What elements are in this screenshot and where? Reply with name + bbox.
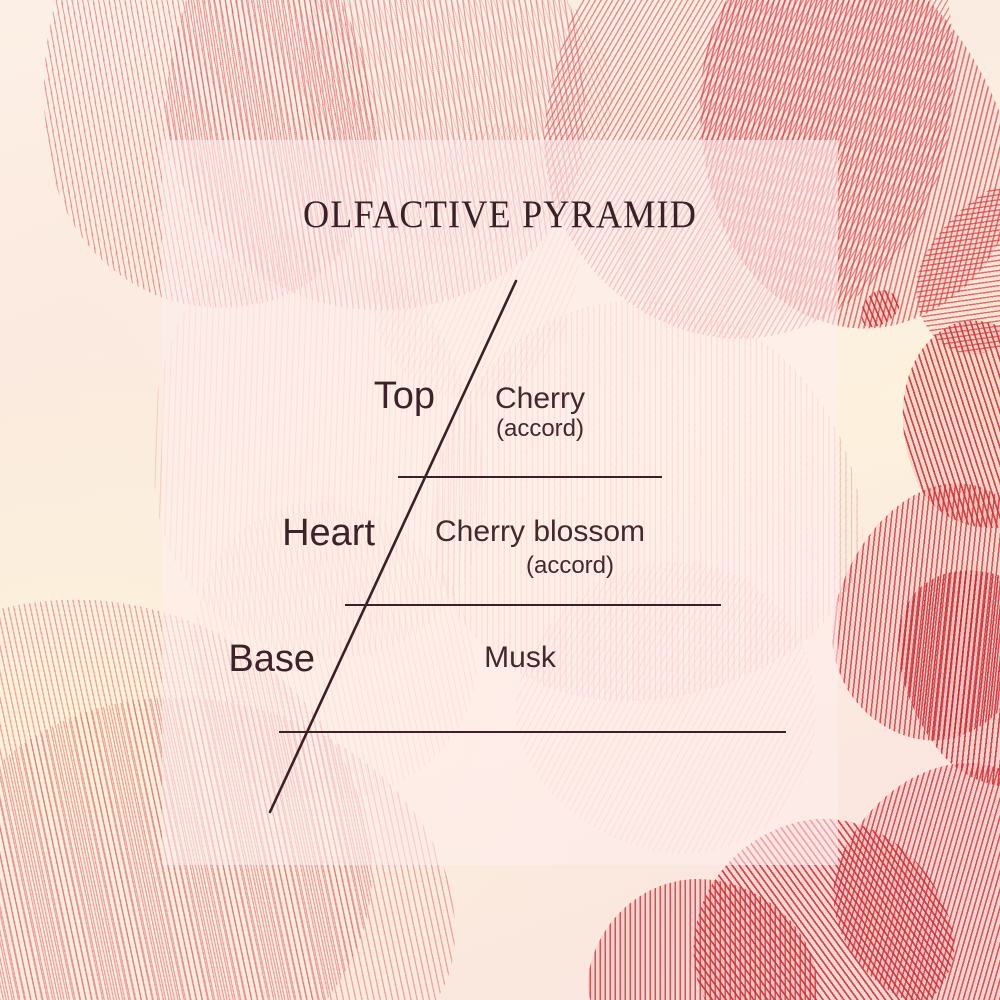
note-base: Musk bbox=[400, 641, 640, 675]
pyramid-diagonal-line bbox=[0, 0, 1000, 1000]
note-top: Cherry bbox=[420, 382, 660, 416]
divider-top-heart bbox=[398, 476, 662, 478]
stage-label-base: Base bbox=[120, 638, 315, 681]
note-heart-qualifier: (accord) bbox=[425, 552, 715, 580]
stage-label-top: Top bbox=[260, 375, 435, 418]
note-top-qualifier: (accord) bbox=[420, 415, 660, 443]
note-heart: Cherry blossom bbox=[395, 515, 685, 549]
stage-label-heart: Heart bbox=[180, 512, 375, 555]
olfactive-pyramid-graphic: OLFACTIVE PYRAMID Top Heart Base Cherry … bbox=[0, 0, 1000, 1000]
divider-heart-base bbox=[345, 604, 721, 606]
divider-base-bottom bbox=[279, 731, 786, 733]
page-title: OLFACTIVE PYRAMID bbox=[35, 192, 965, 237]
